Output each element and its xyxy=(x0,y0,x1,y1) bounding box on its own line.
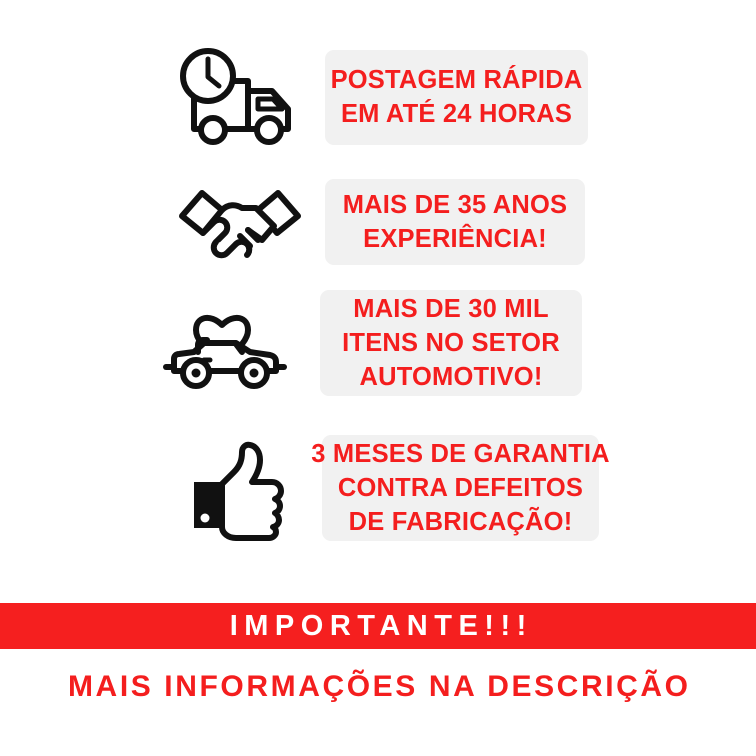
thumbs-up-icon xyxy=(152,428,322,548)
important-headline: IMPORTANTE!!! xyxy=(223,612,533,641)
important-bar: IMPORTANTE!!! xyxy=(0,603,756,649)
handshake-icon xyxy=(155,162,325,282)
feature-row-shipping: POSTAGEM RÁPIDA EM ATÉ 24 HORAS xyxy=(155,37,588,157)
feature-row-catalogue: MAIS DE 30 MIL ITENS NO SETOR AUTOMOTIVO… xyxy=(150,283,582,403)
feature-row-warranty: 3 MESES DE GARANTIA CONTRA DEFEITOS DE F… xyxy=(152,428,599,548)
feature-line: EXPERIÊNCIA! xyxy=(363,222,547,256)
car-heart-icon xyxy=(150,283,320,403)
feature-line: ITENS NO SETOR xyxy=(342,326,560,360)
feature-line: AUTOMOTIVO! xyxy=(359,360,542,394)
feature-text-card-catalogue: MAIS DE 30 MIL ITENS NO SETOR AUTOMOTIVO… xyxy=(320,290,582,396)
feature-text-card-warranty: 3 MESES DE GARANTIA CONTRA DEFEITOS DE F… xyxy=(322,435,599,541)
feature-line: MAIS DE 35 ANOS xyxy=(343,188,568,222)
delivery-truck-clock-icon xyxy=(155,37,325,157)
promo-banner-page: POSTAGEM RÁPIDA EM ATÉ 24 HORAS xyxy=(0,0,756,756)
feature-list: POSTAGEM RÁPIDA EM ATÉ 24 HORAS xyxy=(0,0,756,595)
description-note-text: MAIS INFORMAÇÕES NA DESCRIÇÃO xyxy=(65,672,690,702)
feature-line: 3 MESES DE GARANTIA xyxy=(311,437,610,471)
feature-text-card-experience: MAIS DE 35 ANOS EXPERIÊNCIA! xyxy=(325,179,585,265)
feature-line: MAIS DE 30 MIL xyxy=(353,292,549,326)
feature-text-card-shipping: POSTAGEM RÁPIDA EM ATÉ 24 HORAS xyxy=(325,50,588,145)
bottom-banner: IMPORTANTE!!! MAIS INFORMAÇÕES NA DESCRI… xyxy=(0,595,756,756)
feature-line: CONTRA DEFEITOS xyxy=(338,471,583,505)
feature-row-experience: MAIS DE 35 ANOS EXPERIÊNCIA! xyxy=(155,162,585,282)
feature-line: DE FABRICAÇÃO! xyxy=(349,505,573,539)
description-note: MAIS INFORMAÇÕES NA DESCRIÇÃO xyxy=(0,657,756,717)
feature-line: EM ATÉ 24 HORAS xyxy=(341,97,572,131)
feature-line: POSTAGEM RÁPIDA xyxy=(331,63,583,97)
